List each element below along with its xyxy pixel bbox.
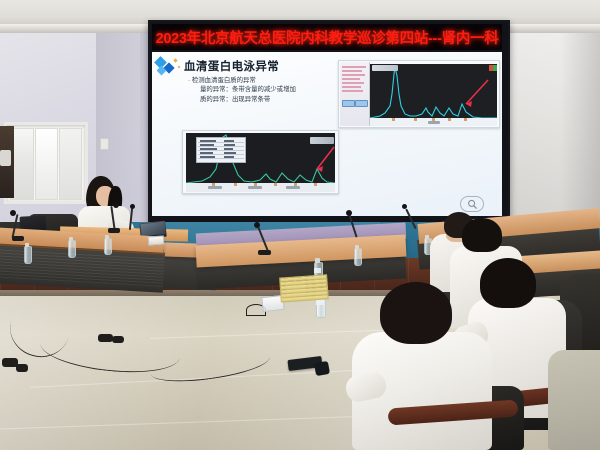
cable-plug: [16, 364, 28, 372]
microphone-head: [346, 210, 352, 216]
microphone-head: [10, 210, 16, 216]
electrophoresis-plot-area-lower: [186, 133, 335, 185]
audience-2-hair: [462, 218, 502, 252]
panel-button-1[interactable]: [342, 100, 355, 107]
measurement-table: [196, 137, 246, 163]
microphone-head: [402, 204, 407, 209]
panel-button-2[interactable]: [355, 100, 368, 107]
slide-bullet-0: · 检测血清蛋白质的异常: [188, 76, 328, 85]
microphone-head: [130, 204, 135, 209]
bottle-label: [314, 268, 321, 273]
presentation-slide: 血清蛋白电泳异常 · 检测血清蛋白质的异常 量的异常：条带含量的减少或增加 质的…: [152, 52, 502, 216]
bottle-cap: [69, 237, 73, 241]
status-swatch: [489, 65, 497, 71]
electrophoresis-curve-upper: [370, 64, 497, 120]
cable-plug: [98, 334, 113, 342]
laptop-screen: [140, 222, 165, 236]
magnifier-icon: [460, 196, 484, 212]
slide-bullet-list: · 检测血清蛋白质的异常 量的异常：条带含量的减少或增加 质的异常：出现异常条带: [188, 76, 328, 104]
light-switch[interactable]: [100, 138, 109, 150]
microphone-base: [12, 236, 24, 241]
bottle-cap: [425, 235, 429, 239]
water-bottle[interactable]: [104, 238, 112, 255]
microphone-base: [258, 250, 271, 255]
bottle-cap: [25, 243, 29, 247]
water-bottle[interactable]: [24, 246, 32, 264]
microphone-head: [254, 222, 260, 228]
analyzer-side-panel: [340, 62, 370, 126]
audience-member-4: [352, 282, 502, 450]
window-pane: [35, 128, 58, 200]
audience-4-hair: [380, 282, 452, 344]
slide-bullet-1: 量的异常：条带含量的减少或增加: [200, 85, 328, 94]
microphone-head: [113, 202, 119, 208]
electrophoresis-axis-lower: [186, 183, 335, 192]
bottle-cap: [355, 245, 359, 249]
window: [4, 122, 88, 204]
electrophoresis-plot-area-upper: [370, 64, 497, 120]
serum-protein-electrophoresis-trace-lower: [182, 130, 339, 194]
led-banner-text: 2023年北京航天总医院内科教学巡诊第四站---肾内一科: [152, 24, 502, 50]
water-bottle[interactable]: [354, 248, 362, 266]
name-card-holder: [148, 235, 165, 245]
slide-bullet-2: 质的异常：出现异常条带: [200, 95, 328, 104]
water-bottle[interactable]: [68, 240, 76, 258]
led-banner: 2023年北京航天总医院内科教学巡诊第四站---肾内一科: [152, 24, 502, 50]
phone-accessory[interactable]: [314, 361, 330, 376]
microphone-base: [108, 228, 120, 233]
slide-title: 血清蛋白电泳异常: [184, 58, 334, 74]
blue-diamond-logo: [154, 55, 184, 77]
bottle-cap: [105, 235, 109, 239]
conference-room-screenshot: 2023年北京航天总医院内科教学巡诊第四站---肾内一科 血清蛋白电泳异常 · …: [0, 0, 600, 450]
magnifier-glyph: [467, 199, 478, 210]
chair-far-light[interactable]: [548, 350, 600, 450]
analyzer-title-bar: [372, 65, 398, 71]
bottle-cap: [315, 258, 320, 263]
window-latch: [0, 150, 11, 166]
yellow-folder-stack[interactable]: [279, 274, 327, 303]
electrophoresis-axis-upper: [370, 118, 497, 126]
serum-protein-electrophoresis-trace-upper: [338, 60, 500, 128]
analyzer-badge: [310, 137, 334, 144]
cable-plug: [112, 336, 124, 343]
wall-corner-shadow: [560, 14, 600, 226]
